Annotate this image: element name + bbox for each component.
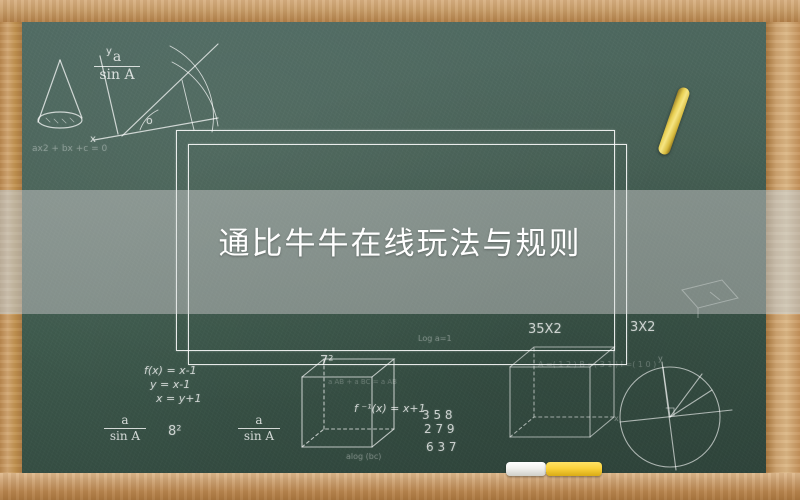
chalk-function-y: y = x-1 [150,378,190,391]
fraction-numerator: a [104,414,146,427]
chalk-log-bc: alog (bc) [346,452,381,461]
chalkboard-banner: y x o a sin A ax2 + bx +c = 0 f(x) = x-1… [0,0,800,500]
fraction-denominator: sin A [104,430,146,443]
fraction-numerator: a [94,50,140,65]
chalk-division-line-3: 6 3 7 [426,440,457,454]
fraction-denominator: sin A [94,68,140,83]
chalk-function-fx: f(x) = x-1 [144,364,197,377]
chalk-label-angle-o: o [146,114,153,127]
frame-bottom-ledge [0,473,800,500]
chalk-quadratic-equation: ax2 + bx +c = 0 [32,144,107,154]
chalk-fraction-a-sin-a-3: a sin A [238,414,280,442]
chalk-function-x: x = y+1 [156,392,201,405]
yellow-chalk-stick [546,462,602,476]
chalk-faint-formula: a AB + a BC = a AB [328,378,397,386]
frame-top-rail [0,0,800,22]
chalk-fraction-a-sin-a-2: a sin A [104,414,146,442]
chalk-power-8-squared: 8² [168,424,181,439]
chalk-circle-axis-y: y [658,354,663,363]
white-chalk-stick [506,462,546,476]
chalk-division-line-2: 2 7 9 [424,422,455,436]
fraction-numerator: a [238,414,280,427]
chalk-division-line-1: 3 5 8 [422,408,453,422]
page-title: 通比牛牛在线玩法与规则 [0,222,800,266]
chalk-inverse-function: f ⁻¹(x) = x+1 [354,402,426,415]
fraction-denominator: sin A [238,430,280,443]
chalk-label-3x2: 3X2 [630,320,655,335]
chalk-circle-axis-x: x [614,414,619,423]
chalk-fraction-a-sin-a-1: a sin A [94,50,140,82]
